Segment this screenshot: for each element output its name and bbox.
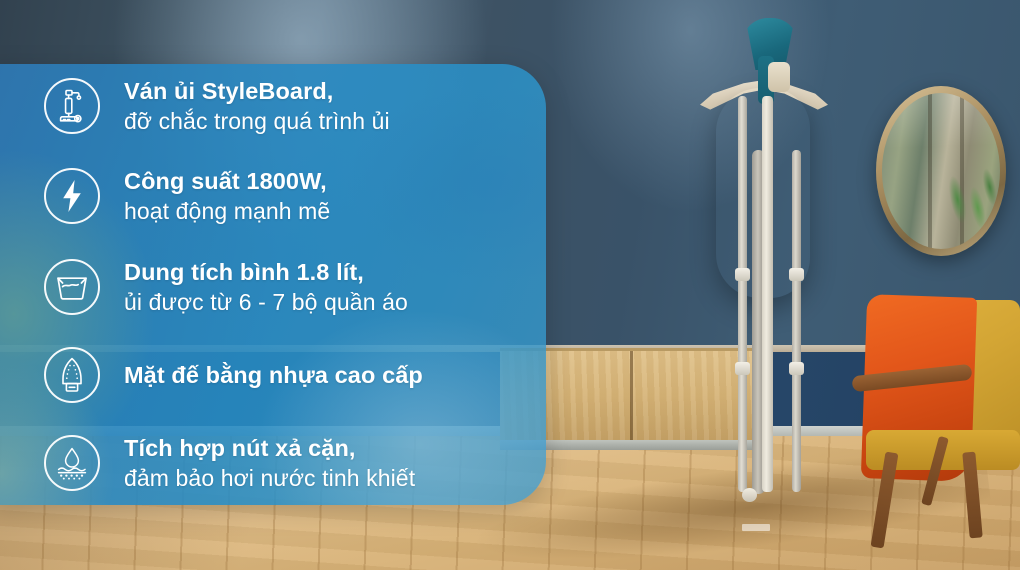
- feature-title: Công suất 1800W,: [124, 166, 330, 196]
- water-tub-icon: [44, 259, 100, 315]
- feature-text: Tích hợp nút xả cặn, đảm bảo hơi nước ti…: [124, 433, 415, 493]
- credenza-door-seam: [630, 351, 633, 443]
- feature-title: Tích hợp nút xả cặn,: [124, 433, 415, 463]
- feature-list: Ván ủi StyleBoard, đỡ chắc trong quá trì…: [44, 76, 518, 493]
- feature-subtitle: hoạt động mạnh mẽ: [124, 196, 330, 226]
- mirror-reflection-plant: [928, 151, 1000, 249]
- feature-subtitle: ủi được từ 6 - 7 bộ quần áo: [124, 287, 408, 317]
- feature-item: Mặt đế bằng nhựa cao cấp: [44, 347, 518, 403]
- garment-steamer-icon: [44, 78, 100, 134]
- feature-title: Ván ủi StyleBoard,: [124, 76, 390, 106]
- steamer-pole: [792, 150, 801, 492]
- feature-title: Mặt đế bằng nhựa cao cấp: [124, 360, 423, 390]
- feature-text: Ván ủi StyleBoard, đỡ chắc trong quá trì…: [124, 76, 390, 136]
- feature-text: Công suất 1800W, hoạt động mạnh mẽ: [124, 166, 330, 226]
- feature-item: Dung tích bình 1.8 lít, ủi được từ 6 - 7…: [44, 257, 518, 317]
- iron-soleplate-icon: [44, 347, 100, 403]
- steamer-base-unit: [720, 478, 830, 548]
- steamer-pole-collar: [735, 268, 750, 281]
- round-mirror: [876, 86, 1006, 256]
- steamer-base-knob: [742, 488, 757, 502]
- feature-panel: Ván ủi StyleBoard, đỡ chắc trong quá trì…: [0, 64, 546, 505]
- feature-subtitle: đảm bảo hơi nước tinh khiết: [124, 463, 415, 493]
- feature-item: Tích hợp nút xả cặn, đảm bảo hơi nước ti…: [44, 433, 518, 493]
- steamer-water-tank: [768, 62, 790, 92]
- steamer-pole-collar: [735, 362, 750, 375]
- steamer-pole: [762, 96, 773, 492]
- feature-text: Mặt đế bằng nhựa cao cấp: [124, 360, 423, 390]
- lightning-bolt-icon: [44, 168, 100, 224]
- mirror-glass: [882, 93, 1000, 249]
- steamer-pole: [738, 96, 747, 492]
- descale-droplet-icon: [44, 435, 100, 491]
- steamer-pole-collar: [789, 268, 804, 281]
- steamer-pole-collar: [789, 362, 804, 375]
- steamer-brand-logo: [742, 524, 770, 531]
- feature-text: Dung tích bình 1.8 lít, ủi được từ 6 - 7…: [124, 257, 408, 317]
- feature-subtitle: đỡ chắc trong quá trình ủi: [124, 106, 390, 136]
- feature-title: Dung tích bình 1.8 lít,: [124, 257, 408, 287]
- product-banner: Ván ủi StyleBoard, đỡ chắc trong quá trì…: [0, 0, 1020, 570]
- feature-item: Công suất 1800W, hoạt động mạnh mẽ: [44, 166, 518, 226]
- feature-item: Ván ủi StyleBoard, đỡ chắc trong quá trì…: [44, 76, 518, 136]
